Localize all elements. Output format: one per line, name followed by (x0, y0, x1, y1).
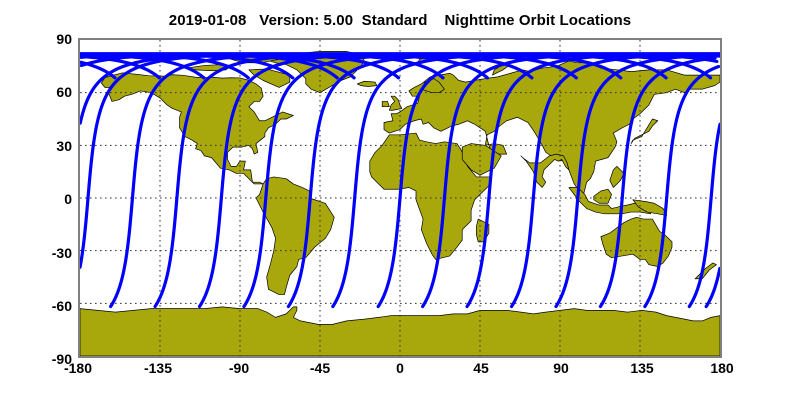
orbit-map-figure: 2019-01-08 Version: 5.00 Standard Nightt… (0, 0, 800, 400)
orbit-track (333, 55, 621, 306)
orbit-track (706, 268, 720, 306)
x-tick-label-135: 135 (607, 360, 677, 376)
orbit-track-layer (80, 40, 720, 356)
x-tick-label--90: -90 (204, 360, 274, 376)
y-tick-label--60: -60 (12, 298, 72, 314)
x-tick-label--180: -180 (43, 360, 113, 376)
x-tick-label-180: 180 (687, 360, 757, 376)
orbit-track (80, 55, 337, 123)
y-tick-label-60: 60 (12, 84, 72, 100)
orbit-track (244, 55, 532, 306)
orbit-track (689, 124, 720, 306)
y-tick-label--30: -30 (12, 245, 72, 261)
x-tick-label--135: -135 (123, 360, 193, 376)
x-tick-label-90: 90 (526, 360, 596, 376)
y-tick-label-90: 90 (12, 31, 72, 47)
orbit-track (556, 55, 713, 306)
x-tick-label-0: 0 (365, 360, 435, 376)
map-plot-area (78, 38, 722, 358)
y-tick-label-0: 0 (12, 191, 72, 207)
x-tick-label-45: 45 (446, 360, 516, 376)
x-tick-label--45: -45 (285, 360, 355, 376)
y-tick-label-30: 30 (12, 138, 72, 154)
orbit-track (288, 55, 576, 306)
orbit-track (155, 55, 443, 306)
orbit-track (200, 55, 488, 306)
orbit-track (467, 55, 717, 306)
chart-title: 2019-01-08 Version: 5.00 Standard Nightt… (0, 12, 800, 29)
orbit-track (645, 67, 719, 307)
